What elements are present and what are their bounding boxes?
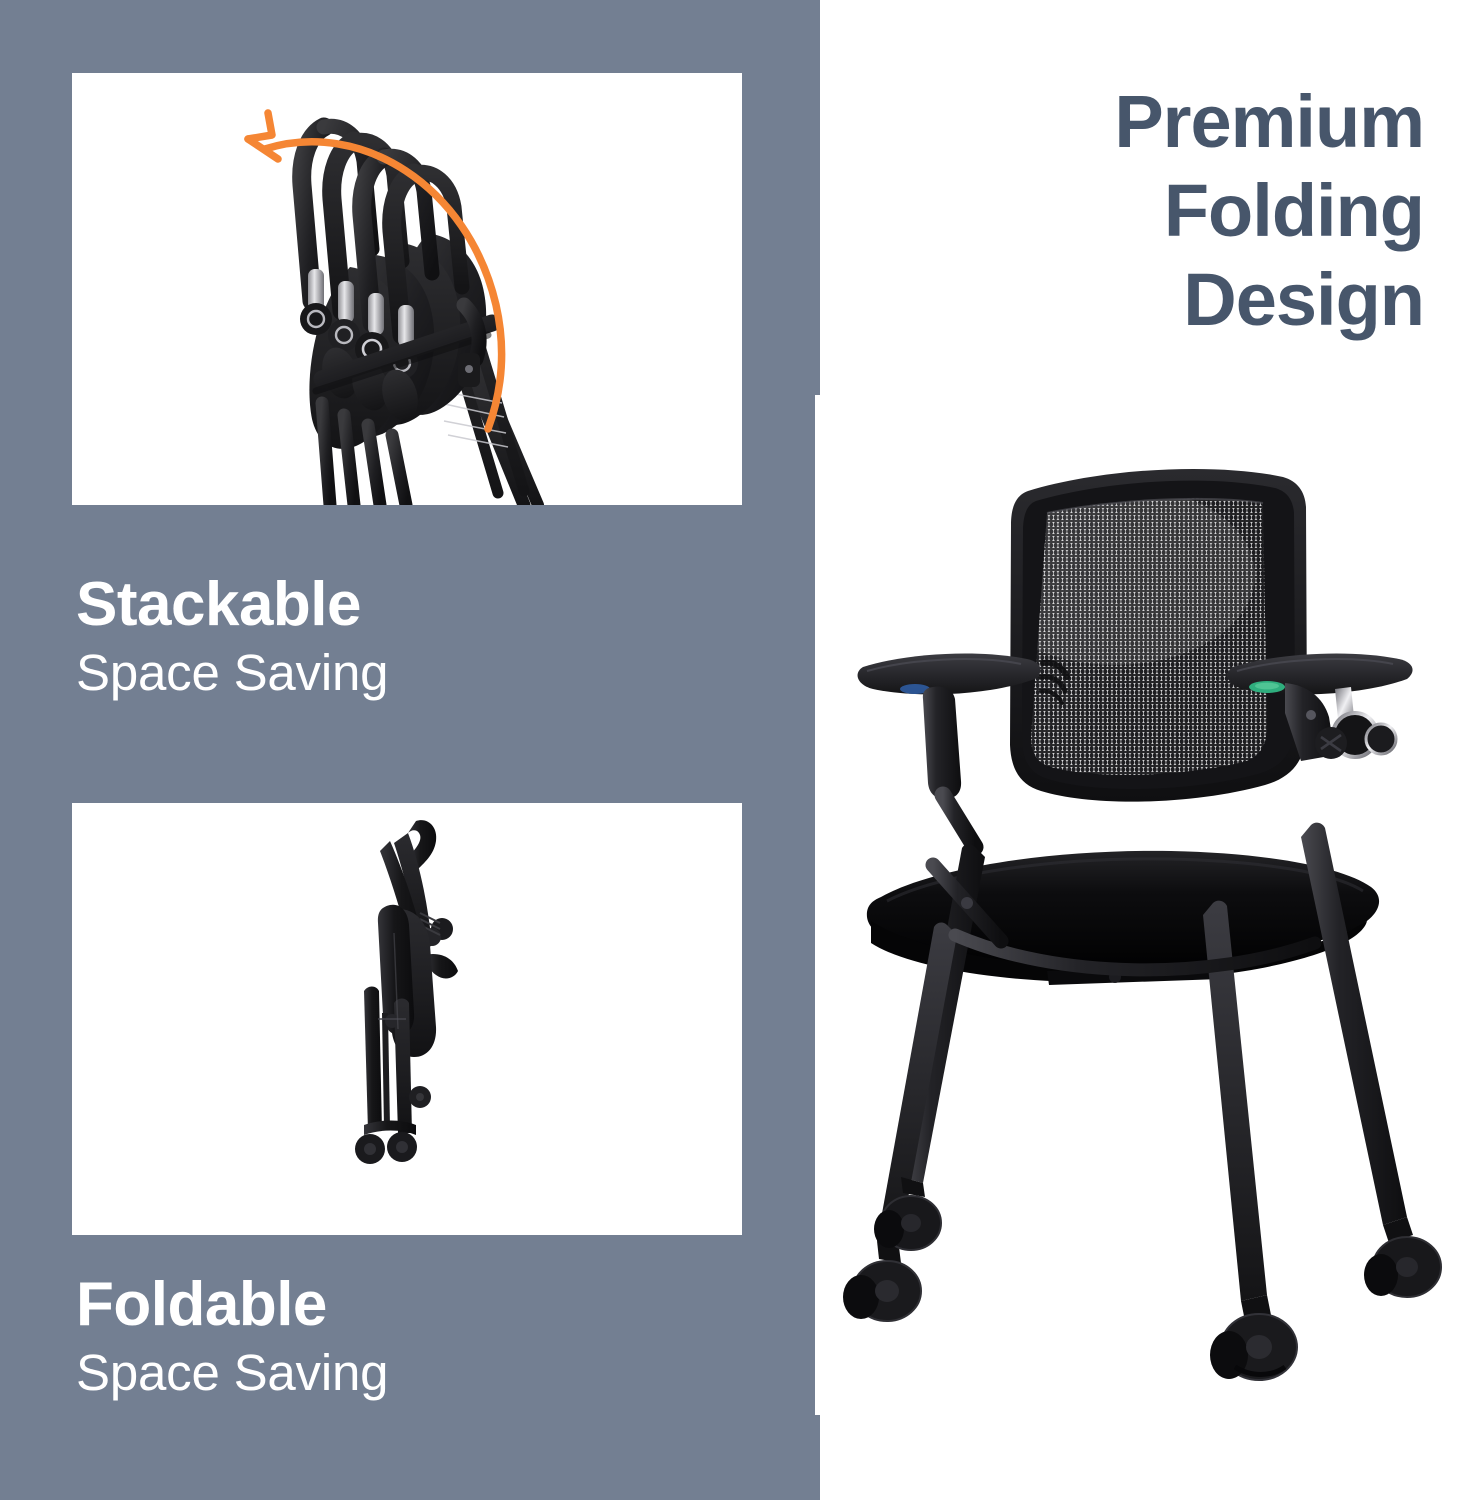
stacked-chairs-illustration	[72, 73, 742, 505]
headline-line-1: Premium	[864, 78, 1424, 167]
feature-image-card-stackable	[72, 73, 742, 505]
product-hero-image	[815, 395, 1466, 1415]
feature-caption-foldable: Foldable Space Saving	[76, 1272, 776, 1401]
feature-title-stackable: Stackable	[76, 572, 776, 638]
feature-caption-stackable: Stackable Space Saving	[76, 572, 776, 701]
feature-subtitle-stackable: Space Saving	[76, 644, 776, 701]
headline-line-2: Folding	[864, 167, 1424, 256]
headline: Premium Folding Design	[864, 78, 1424, 344]
product-feature-infographic: Stackable Space Saving	[0, 0, 1466, 1500]
headline-line-3: Design	[864, 256, 1424, 345]
feature-subtitle-foldable: Space Saving	[76, 1344, 776, 1401]
folded-chair-illustration	[72, 803, 742, 1235]
feature-title-foldable: Foldable	[76, 1272, 776, 1338]
feature-image-card-foldable	[72, 803, 742, 1235]
